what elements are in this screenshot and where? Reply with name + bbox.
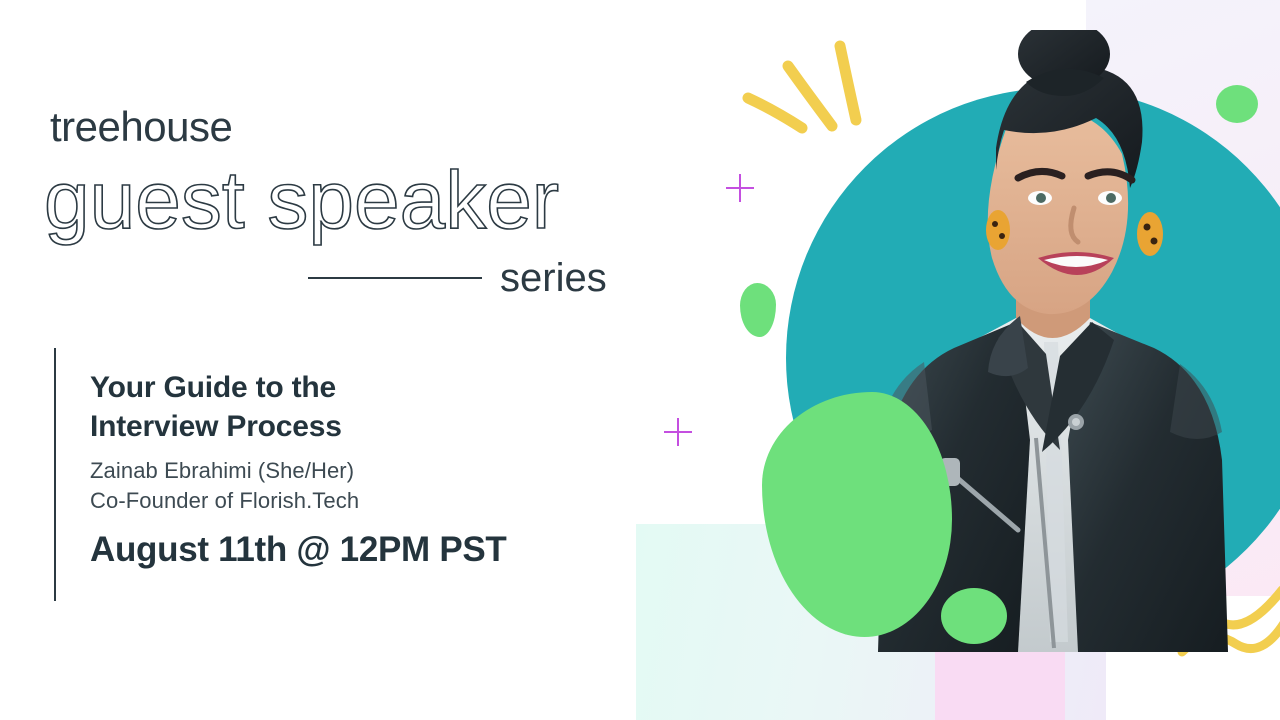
series-label: series (500, 258, 607, 298)
info-vertical-rule (54, 348, 56, 601)
session-title-line-1: Your Guide to the (90, 371, 336, 404)
plus-mark-lower (664, 418, 692, 446)
series-row: series (308, 254, 628, 302)
treehouse-wordmark: treehouse (50, 106, 232, 148)
session-title: Your Guide to the Interview Process (90, 368, 610, 446)
blob-round (941, 588, 1007, 644)
blob-top-right-dot (1216, 85, 1258, 123)
speaker-name: Zainab Ebrahimi (She/Her) (90, 456, 610, 486)
session-title-line-2: Interview Process (90, 410, 342, 443)
session-info-block: Your Guide to the Interview Process Zain… (90, 368, 610, 569)
event-datetime: August 11th @ 12PM PST (90, 531, 610, 570)
series-divider-rule (308, 277, 482, 279)
plus-mark-upper (726, 174, 754, 202)
speaker-role: Co-Founder of Florish.Tech (90, 486, 610, 516)
guest-speaker-promo-slide: treehouse guest speaker series Your Guid… (0, 0, 1280, 720)
blob-small-left (740, 283, 776, 337)
headline-guest-speaker: guest speaker (44, 158, 559, 244)
